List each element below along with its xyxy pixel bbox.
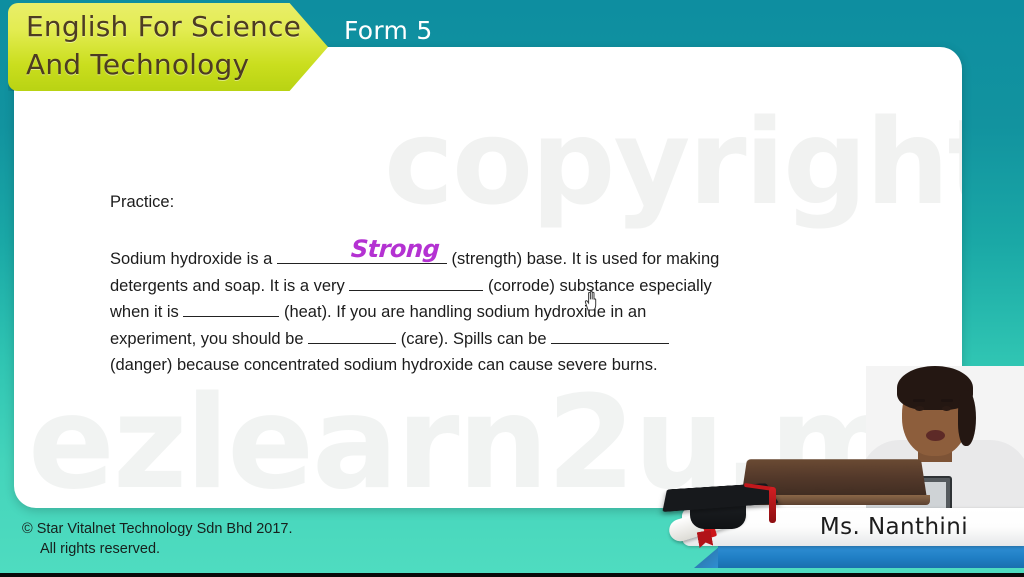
passage-segment-6: (danger) because concentrated sodium hyd… — [110, 356, 658, 374]
presenter-nameplate-group: Ms. Nanthini — [660, 455, 1024, 577]
slide-background: copyrighted ezlearn2u.my Practice: Sodiu… — [0, 0, 1024, 577]
practice-passage: Sodium hydroxide is a (strength) base. I… — [110, 246, 730, 379]
passage-segment-1: Sodium hydroxide is a — [110, 250, 277, 268]
blue-bar-bevel — [694, 546, 720, 568]
form-level-label: Form 5 — [344, 16, 433, 45]
copyright-line-2: All rights reserved. — [22, 539, 293, 559]
answer-blank-heat[interactable] — [183, 300, 279, 317]
graduation-tassel-icon — [769, 487, 776, 523]
presenter-hair-side — [958, 390, 976, 446]
presenter-mouth — [926, 430, 945, 441]
hand-pointer-cursor — [582, 290, 600, 312]
copyright-line-1: © Star Vitalnet Technology Sdn Bhd 2017. — [22, 521, 293, 537]
course-title-line-2: And Technology — [26, 46, 328, 84]
answer-blank-care[interactable] — [308, 327, 396, 344]
answer-blank-danger[interactable] — [551, 327, 669, 344]
answer-blank-corrode[interactable] — [349, 274, 483, 291]
presenter-eye-right — [942, 406, 951, 411]
practice-label: Practice: — [110, 193, 174, 212]
presenter-eye-left — [915, 406, 924, 411]
presenter-eyebrow-left — [913, 399, 925, 402]
presenter-eyebrow-right — [941, 399, 953, 402]
presenter-name-label: Ms. Nanthini — [820, 514, 968, 540]
handwritten-answer-strong: Strong — [350, 235, 440, 263]
slide-content-card: copyrighted ezlearn2u.my Practice: Sodiu… — [14, 47, 962, 508]
course-title-banner: English For Science And Technology — [8, 3, 328, 91]
passage-segment-5: (care). Spills can be — [396, 330, 551, 348]
bottom-black-strip — [0, 573, 1024, 577]
copyright-notice: © Star Vitalnet Technology Sdn Bhd 2017.… — [22, 519, 293, 559]
course-title-line-1: English For Science — [26, 8, 328, 46]
blue-accent-bar — [718, 546, 1024, 568]
watermark-copyrighted: copyrighted — [384, 93, 962, 231]
